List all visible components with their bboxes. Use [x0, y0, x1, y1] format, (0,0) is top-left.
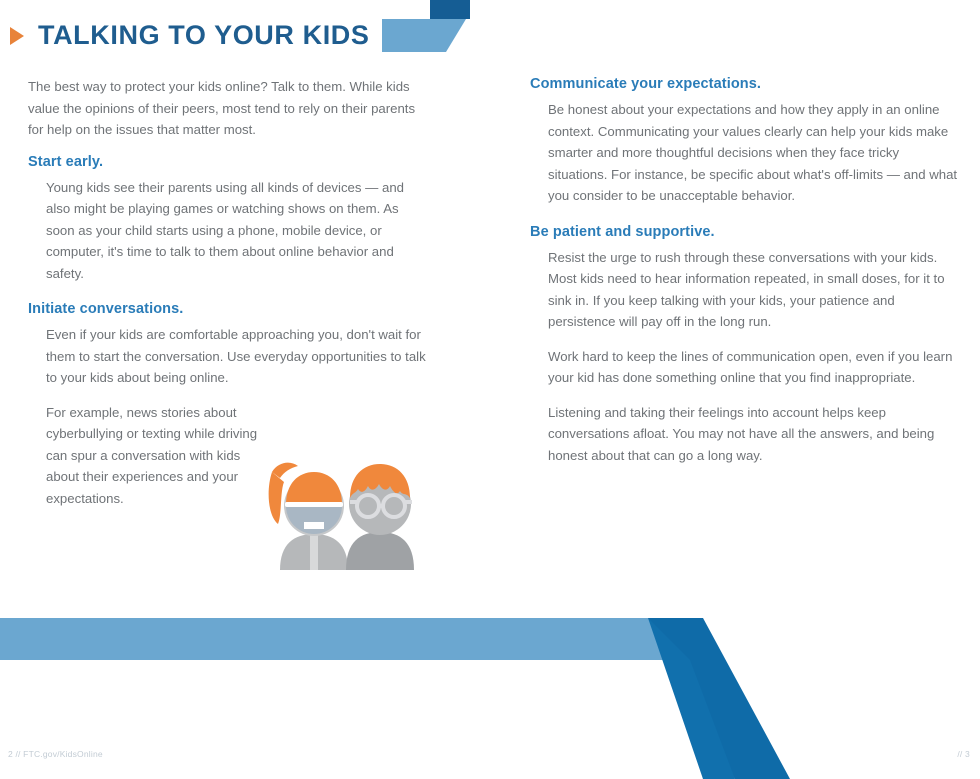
section-paragraph: Resist the urge to rush through these co… [548, 247, 958, 333]
section-heading: Communicate your expectations. [530, 76, 958, 92]
section-paragraph: For example, news stories about cyberbul… [46, 402, 258, 510]
section-paragraph: Listening and taking their feelings into… [548, 402, 958, 467]
section-paragraph: Be honest about your expectations and ho… [548, 99, 958, 207]
section-start-early: Start early. Young kids see their parent… [28, 154, 428, 285]
section-paragraph: Work hard to keep the lines of communica… [548, 346, 958, 389]
section-paragraph: Young kids see their parents using all k… [46, 177, 428, 285]
section-heading: Start early. [28, 154, 428, 170]
bottom-banner-graphic [0, 612, 980, 779]
section-paragraph: Even if your kids are comfortable approa… [46, 324, 428, 389]
footer-left-text: 2 // FTC.gov/KidsOnline [8, 749, 103, 759]
section-heading: Be patient and supportive. [530, 224, 958, 240]
document-page: TALKING TO YOUR KIDS The best way to pro… [0, 0, 980, 779]
header-decoration-graphic [378, 0, 488, 58]
two-kids-icon [258, 448, 430, 570]
footer-right-text: // 3 [957, 749, 970, 759]
intro-paragraph: The best way to protect your kids online… [28, 76, 428, 141]
page-title: TALKING TO YOUR KIDS [38, 20, 370, 51]
right-column: Communicate your expectations. Be honest… [530, 76, 958, 483]
triangle-right-icon [10, 27, 24, 45]
section-communicate-expectations: Communicate your expectations. Be honest… [530, 76, 958, 207]
section-be-patient-supportive: Be patient and supportive. Resist the ur… [530, 224, 958, 467]
section-heading: Initiate conversations. [28, 301, 428, 317]
